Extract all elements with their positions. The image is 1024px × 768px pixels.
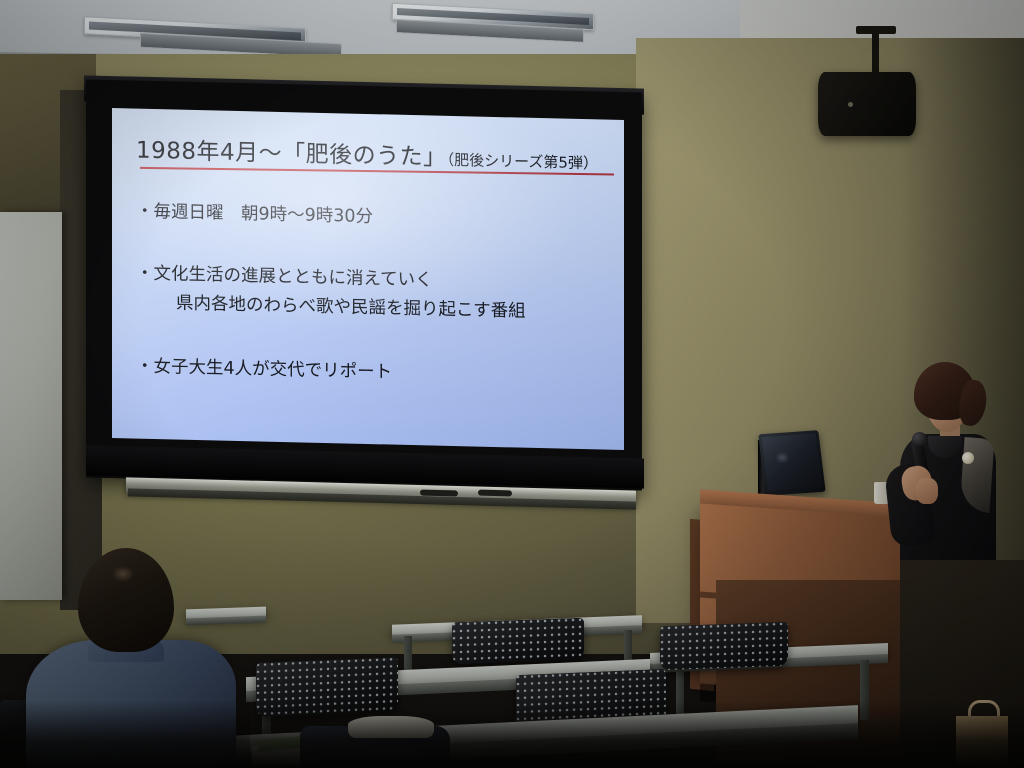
lectern-monitor (758, 430, 825, 496)
ceiling-speaker (818, 72, 916, 136)
presenter-hand (916, 478, 938, 504)
desk-leg (676, 668, 684, 716)
projected-slide: 1988年4月～「肥後のうた」（肥後シリーズ第5弾） ・毎週日曜 朝9時～9時3… (112, 108, 624, 450)
slide-content: 1988年4月～「肥後のうた」（肥後シリーズ第5弾） ・毎週日曜 朝9時～9時3… (112, 108, 624, 450)
slide-title-parenthetical: （肥後シリーズ第5弾） (447, 151, 598, 173)
speaker-bracket (872, 30, 879, 78)
desk-leg (404, 636, 412, 672)
marker-pen (478, 490, 512, 497)
desk-leg (860, 660, 869, 720)
chair (660, 622, 788, 670)
whiteboard-panel (0, 212, 62, 600)
slide-title-main: 1988年4月～「肥後のうた」 (136, 138, 447, 171)
slide-bullet-3: ・女子大生4人が交代でリポート (136, 353, 608, 390)
slide-bullet-1: ・毎週日曜 朝9時～9時30分 (136, 199, 608, 236)
slide-title-block: 1988年4月～「肥後のうた」（肥後シリーズ第5弾） (136, 131, 608, 176)
chair (256, 657, 398, 717)
lecture-hall-photo: 1988年4月～「肥後のうた」（肥後シリーズ第5弾） ・毎週日曜 朝9時～9時3… (0, 0, 1024, 768)
bag-contents (348, 716, 434, 738)
monitor-screen (762, 433, 823, 490)
paper-tote-bag (956, 716, 1008, 768)
flower-brooch (962, 452, 974, 464)
monitor-reflection (774, 451, 789, 464)
speaker-led-icon (848, 102, 853, 107)
chair (452, 618, 584, 665)
hair-highlight (112, 566, 134, 582)
marker-pen (420, 490, 458, 497)
